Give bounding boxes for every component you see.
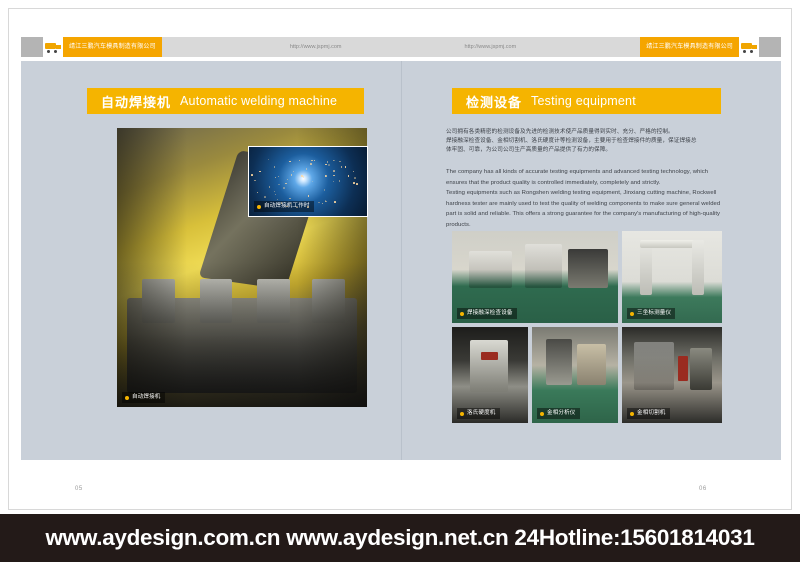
header-grey-bar-right — [520, 37, 640, 57]
spark-particle — [327, 161, 329, 163]
spark-particle — [334, 201, 336, 203]
spark-particle — [311, 160, 313, 162]
spark-particle — [251, 174, 253, 176]
truck-icon — [741, 41, 757, 53]
cutting-machine-body-shape — [634, 342, 674, 390]
spark-particle — [274, 166, 276, 168]
header-grey-bar-left — [162, 37, 282, 57]
spark-particle — [303, 176, 305, 178]
spark-particle — [318, 202, 320, 204]
right-page-title-en: Testing equipment — [531, 94, 636, 108]
spark-particle — [268, 159, 270, 161]
spark-particle — [325, 164, 327, 166]
left-page-number: 05 — [75, 486, 83, 492]
welding-spark-inset-photo: 自动焊接机工作时 — [248, 146, 368, 217]
spark-particle — [307, 206, 309, 208]
spark-particle — [286, 206, 288, 208]
red-handle-shape — [678, 356, 688, 381]
spark-particle — [281, 202, 283, 204]
header-company-right: 靖江三鹏汽车模具制造有限公司 — [640, 37, 739, 57]
en-paragraph-1: The company has all kinds of accurate te… — [446, 167, 724, 188]
header-url-right: http://www.jspmj.com — [438, 37, 520, 57]
spark-particle — [308, 195, 310, 197]
spark-particle — [333, 170, 335, 172]
spark-particle — [339, 180, 341, 182]
spark-particle — [293, 171, 295, 173]
bullet-dot-icon — [125, 396, 129, 400]
spark-particle — [328, 164, 330, 166]
welding-photo-caption: 自动焊接机 — [122, 392, 165, 403]
spark-particle — [283, 187, 285, 189]
spark-particle — [275, 194, 277, 196]
header-company-left: 靖江三鹏汽车模具制造有限公司 — [63, 37, 162, 57]
left-page-title-bar: 自动焊接机 Automatic welding machine — [87, 88, 364, 114]
bullet-dot-icon — [630, 312, 634, 316]
bullet-dot-icon — [540, 412, 544, 416]
spark-particle — [269, 186, 271, 188]
cmm-column-shape — [640, 240, 652, 295]
spark-particle — [275, 177, 277, 179]
spark-particle — [325, 201, 327, 203]
spark-particle — [277, 199, 279, 201]
spread-bottom-white-band — [21, 460, 781, 498]
spark-particle — [312, 181, 314, 183]
spark-particle — [264, 196, 266, 198]
spark-particle — [259, 171, 261, 173]
analyzer-body-shape — [546, 339, 572, 385]
right-page-number: 06 — [699, 486, 707, 492]
coordinate-measuring-machine-photo: 三坐标测量仪 — [622, 231, 722, 323]
spark-particle — [345, 166, 347, 168]
spark-particle — [310, 163, 312, 165]
spark-particle — [333, 175, 335, 177]
caption-text: 金相切割机 — [637, 409, 666, 418]
brochure-header-strip: 靖江三鹏汽车模具制造有限公司 http://www.jspmj.com http… — [21, 37, 781, 57]
left-page-title-en: Automatic welding machine — [180, 94, 337, 108]
spark-particle — [353, 182, 355, 184]
right-page-title-cn: 检测设备 — [466, 92, 522, 111]
header-right-grey-block — [759, 37, 781, 57]
spark-particle — [354, 177, 356, 179]
spark-particle — [301, 175, 303, 177]
monitor-shape — [568, 249, 608, 288]
spark-particle — [306, 168, 308, 170]
cabinet-shape — [690, 348, 712, 390]
caption-text: 洛氏硬度机 — [467, 409, 496, 418]
right-page-title-bar: 检测设备 Testing equipment — [452, 88, 721, 114]
caption-text: 焊接融深检查设备 — [467, 309, 513, 318]
photo-caption: 三坐标测量仪 — [627, 308, 675, 319]
spark-particle — [322, 203, 324, 205]
page-sheet: 靖江三鹏汽车模具制造有限公司 http://www.jspmj.com http… — [8, 8, 792, 510]
tester-dial-shape — [481, 352, 498, 360]
header-center-spacer — [368, 37, 438, 57]
watermark-banner: www.aydesign.com.cn www.aydesign.net.cn … — [0, 514, 800, 562]
spark-particle — [285, 183, 287, 185]
machine-shape — [525, 244, 562, 288]
spark-particle — [278, 176, 280, 178]
desk-shape — [577, 344, 606, 384]
truck-icon — [45, 41, 61, 53]
header-url-left: http://www.jspmj.com — [282, 37, 368, 57]
caption-text: 三坐标测量仪 — [637, 309, 671, 318]
spark-particle — [274, 191, 276, 193]
caption-text: 自动焊接机 — [132, 393, 161, 402]
spark-particle — [287, 179, 289, 181]
caption-text: 金相分析仪 — [547, 409, 576, 418]
photo-caption: 金相分析仪 — [537, 408, 580, 419]
bullet-dot-icon — [460, 412, 464, 416]
bullet-dot-icon — [630, 412, 634, 416]
right-page-chinese-body: 公司拥有各类精密的检测设备及先进的检测技术使产品质量得到实时、充分、严格的控制。… — [446, 128, 722, 156]
spark-particle — [299, 160, 301, 162]
metallographic-analyzer-photo: 金相分析仪 — [532, 327, 618, 423]
rockwell-hardness-tester-photo: 洛氏硬度机 — [452, 327, 528, 423]
page-gutter-divider — [401, 61, 402, 460]
bullet-dot-icon — [257, 205, 261, 209]
metallographic-cutting-machine-photo: 金相切割机 — [622, 327, 722, 423]
brochure-spread-screenshot: 靖江三鹏汽车模具制造有限公司 http://www.jspmj.com http… — [0, 0, 800, 562]
spark-particle — [254, 180, 256, 182]
spark-particle — [333, 181, 335, 183]
photo-caption: 洛氏硬度机 — [457, 408, 500, 419]
spark-particle — [289, 198, 291, 200]
left-page-title-cn: 自动焊接机 — [101, 92, 171, 111]
photo-caption: 金相切割机 — [627, 408, 670, 419]
spark-particle — [314, 160, 316, 162]
truck-icon-left — [43, 37, 63, 57]
spark-particle — [324, 189, 326, 191]
truck-icon-right — [739, 37, 759, 57]
spark-particle — [339, 161, 341, 163]
cn-line-3: 体牢固、可靠，为公司公司生产高质量的产品提供了有力的保障。 — [446, 146, 722, 155]
photo-caption: 焊接融深检查设备 — [457, 308, 517, 319]
en-paragraph-2: Testing equipments such as Rongshen weld… — [446, 188, 724, 230]
spark-particle — [278, 184, 280, 186]
tester-body-shape — [470, 340, 508, 392]
machine-shape — [469, 251, 512, 288]
spark-particle — [341, 166, 343, 168]
welding-depth-inspection-photo: 焊接融深检查设备 — [452, 231, 618, 323]
cmm-column-shape — [692, 240, 704, 295]
spark-particle — [257, 192, 259, 194]
bullet-dot-icon — [460, 312, 464, 316]
header-left-grey-block — [21, 37, 43, 57]
welding-spark-photo-caption: 自动焊接机工作时 — [254, 201, 314, 212]
spark-particle — [353, 171, 355, 173]
spark-particle — [356, 183, 358, 185]
right-page-english-body: The company has all kinds of accurate te… — [446, 167, 724, 231]
cn-line-2: 焊接融深检查设备、金相切割机、洛氏硬度计等检测设备，主要用于检查焊接件的质量，保… — [446, 137, 722, 146]
spark-particle — [348, 175, 350, 177]
spark-particle — [291, 174, 293, 176]
watermark-banner-text: www.aydesign.com.cn www.aydesign.net.cn … — [45, 525, 754, 551]
spark-particle — [289, 161, 291, 163]
cn-line-1: 公司拥有各类精密的检测设备及先进的检测技术使产品质量得到实时、充分、严格的控制。 — [446, 128, 722, 137]
